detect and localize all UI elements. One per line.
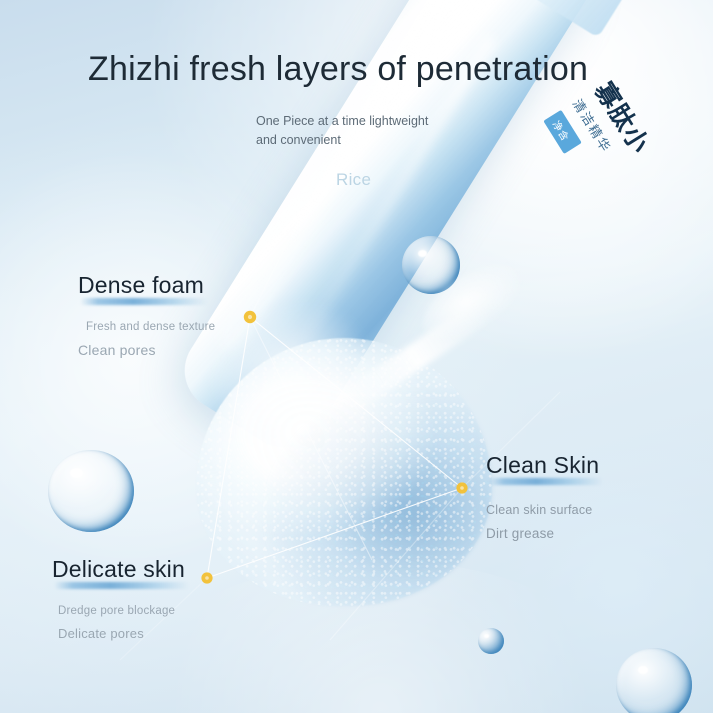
feature-clean-skin: Clean Skin Clean skin surface Dirt greas…: [486, 452, 599, 541]
watermark-text: Rice: [336, 170, 371, 190]
feature-dense-foam: Dense foam Fresh and dense texture Clean…: [78, 272, 215, 358]
product-poster: 寡肽小 清洁精华 净含: [0, 0, 713, 713]
feature-title: Dense foam: [78, 272, 204, 299]
feature-line-2: Dirt grease: [486, 526, 599, 541]
droplet-specular: [418, 250, 427, 257]
page-title: Zhizhi fresh layers of penetration: [88, 50, 588, 89]
feature-title: Delicate skin: [52, 556, 185, 583]
title-underline: [488, 478, 603, 485]
droplet-specular: [70, 468, 83, 478]
title-underline: [54, 582, 189, 589]
feature-delicate-skin: Delicate skin Dredge pore blockage Delic…: [52, 556, 185, 641]
droplet-specular: [638, 666, 648, 674]
feature-line-1: Fresh and dense texture: [86, 321, 215, 333]
feature-line-1: Clean skin surface: [486, 503, 599, 517]
feature-line-1: Dredge pore blockage: [58, 605, 185, 617]
page-subtitle: One Piece at a time lightweight and conv…: [256, 112, 428, 151]
feature-line-2: Clean pores: [78, 342, 215, 358]
feature-line-2: Delicate pores: [58, 626, 185, 641]
droplet-specular: [484, 634, 489, 638]
title-underline: [80, 298, 208, 305]
feature-title: Clean Skin: [486, 452, 599, 479]
